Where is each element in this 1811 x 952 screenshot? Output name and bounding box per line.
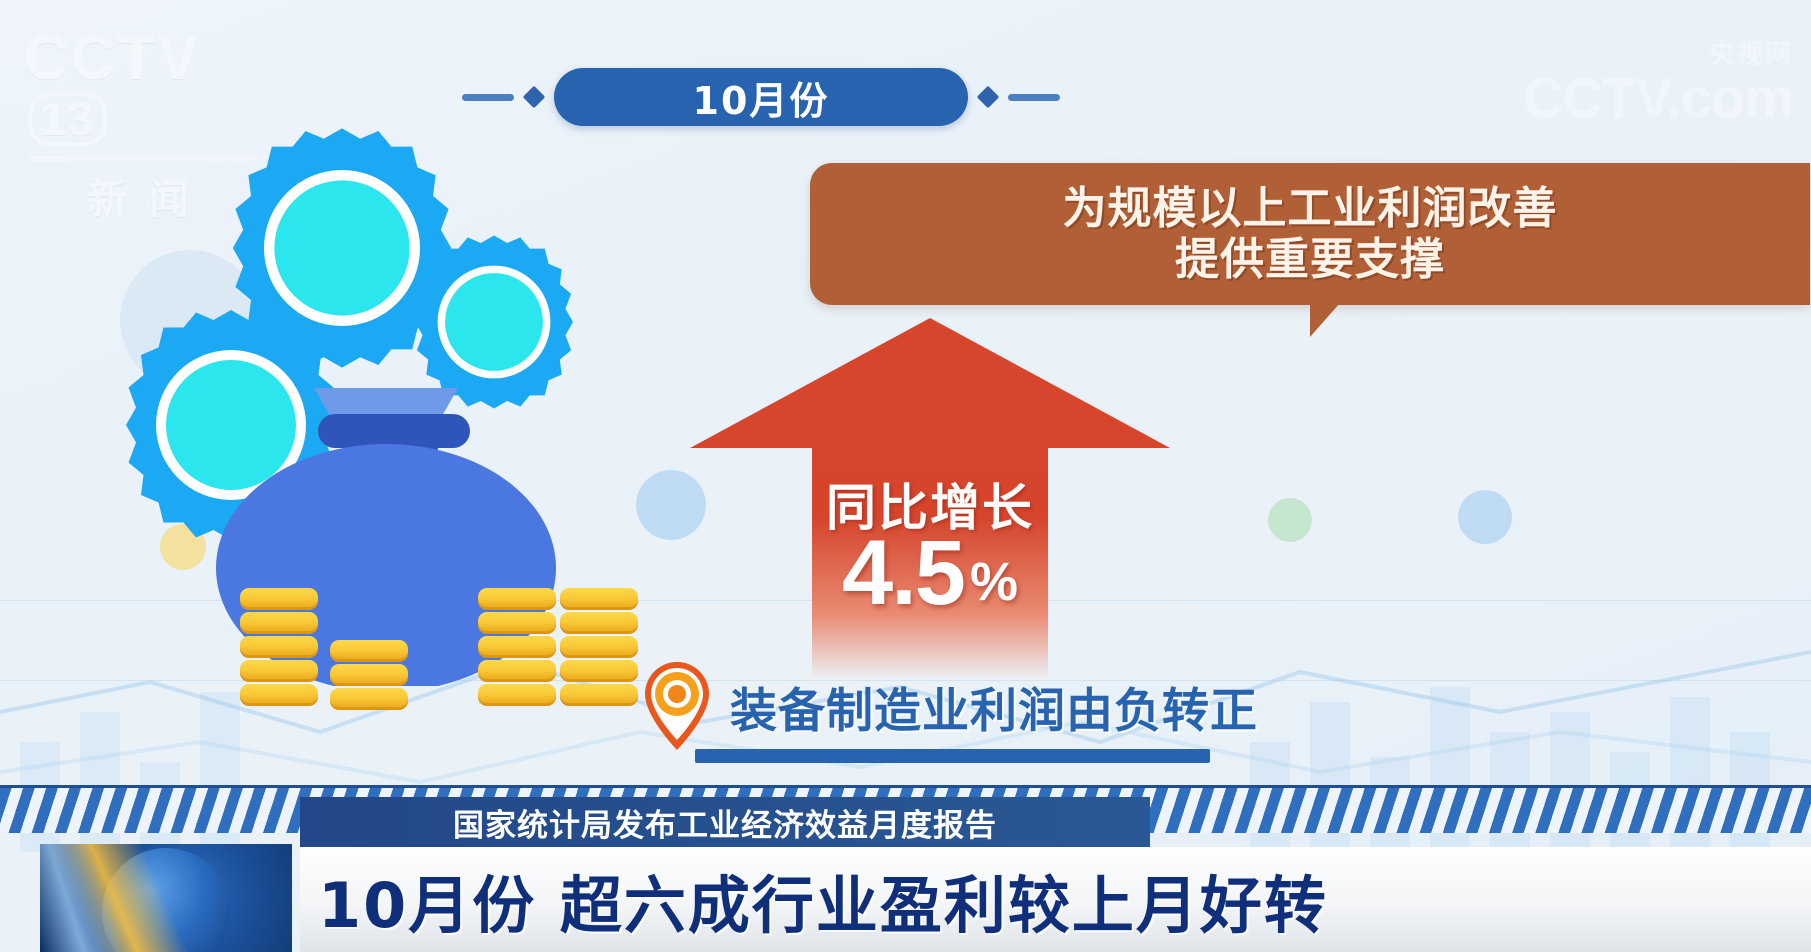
coin-stack-icon	[330, 640, 408, 710]
month-badge: 10月份	[554, 68, 968, 126]
tld-label: .com	[1666, 66, 1793, 129]
bg-blob	[1458, 490, 1512, 544]
cctv-wordmark: CCTV	[24, 24, 201, 93]
broadcast-graphic-screen: CCTV13 新闻 央视网 CCTV.com	[0, 0, 1811, 952]
channel-number: 13	[28, 92, 107, 146]
highlight-row: 装备制造业利润由负转正	[640, 660, 1258, 752]
kicker-text: 国家统计局发布工业经济效益月度报告	[453, 800, 997, 845]
cctvcom-watermark: 央视网 CCTV.com	[1523, 34, 1793, 124]
map-pin-icon	[640, 660, 714, 752]
swoosh-decoration	[40, 844, 292, 952]
growth-value-group: 4.5 %	[690, 530, 1170, 617]
coin-stack-icon	[240, 588, 318, 706]
growth-unit: %	[970, 555, 1018, 609]
news-globe-thumbnail	[40, 844, 292, 952]
callout-line-1: 为规模以上工业利润改善	[1063, 184, 1558, 233]
diamond-ornament-icon	[977, 86, 1000, 109]
growth-value: 4.5	[842, 530, 964, 617]
month-badge-group: 10月份	[462, 68, 1060, 126]
growth-arrow: 同比增长 4.5 %	[690, 318, 1170, 678]
callout-bubble: 为规模以上工业利润改善 提供重要支撑	[810, 163, 1810, 305]
arrow-up-icon	[690, 318, 1170, 448]
dash-ornament-icon	[1008, 94, 1060, 101]
month-badge-label: 10月份	[693, 70, 830, 125]
cctv-wordmark-right: CCTV	[1523, 66, 1666, 129]
highlight-underline	[695, 749, 1210, 763]
coin-stack-icon	[478, 588, 556, 706]
highlight-text: 装备制造业利润由负转正	[730, 672, 1258, 741]
lower-third-kicker: 国家统计局发布工业经济效益月度报告	[300, 797, 1150, 847]
callout-line-2: 提供重要支撑	[1175, 235, 1445, 284]
diamond-ornament-icon	[523, 86, 546, 109]
lower-third-headline: 10月份 超六成行业盈利较上月好转	[300, 847, 1811, 952]
bg-blob	[1268, 498, 1312, 542]
coin-stack-icon	[560, 588, 638, 706]
callout-bubble-tail	[1310, 303, 1362, 337]
headline-text: 10月份 超六成行业盈利较上月好转	[318, 855, 1328, 945]
dash-ornament-icon	[462, 94, 514, 101]
